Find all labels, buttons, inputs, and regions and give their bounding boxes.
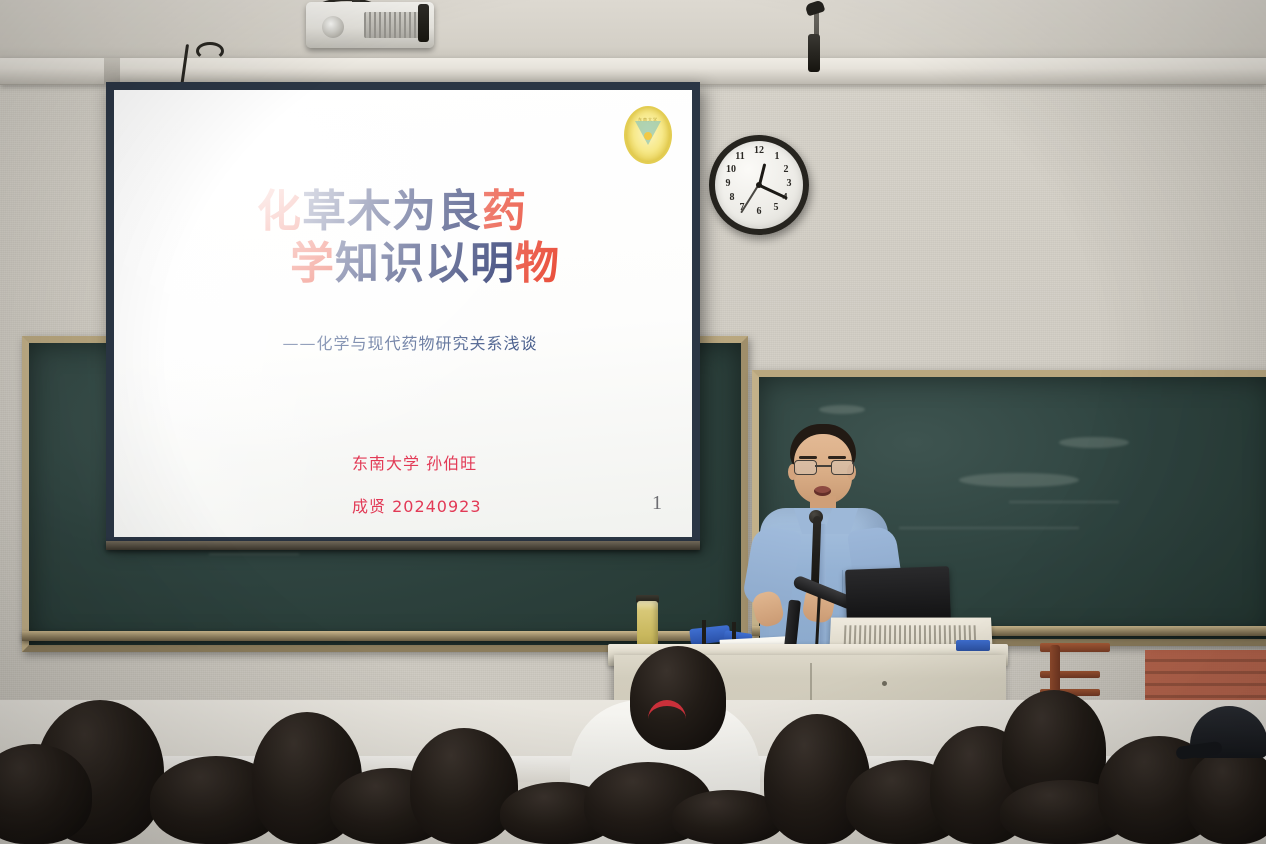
- glasses-lens-right: [831, 460, 854, 475]
- slide-title-line-2: 学知识以明物: [158, 238, 692, 290]
- title1-char-last: 药: [482, 186, 527, 237]
- projector-power-plug: [418, 4, 429, 42]
- chalk-tray-left: [22, 631, 734, 641]
- clock-numeral-6: 6: [753, 207, 765, 217]
- clock-numeral-1: 1: [771, 152, 783, 162]
- slide-surface: 东南大学 化草木为良药 学知识以明物 ——化学与现代药物研究关系浅谈 东南大学 …: [114, 90, 692, 537]
- glasses-lens-left: [794, 460, 817, 475]
- title1-char-1: 化: [257, 186, 302, 237]
- student-head-16: [1186, 748, 1266, 844]
- title2-mid: 知识以明: [335, 238, 515, 289]
- tea-thermos: [637, 601, 658, 649]
- clock-numeral-8: 8: [726, 193, 738, 203]
- blue-pad-item: [956, 640, 990, 651]
- lecturer-brow-left: [799, 456, 817, 459]
- screen-roller-housing: [0, 58, 1266, 85]
- clock-numeral-11: 11: [734, 152, 746, 162]
- screen-bottom-bar: [106, 541, 700, 550]
- title2-char-1: 学: [290, 238, 335, 289]
- glasses-icon: [794, 460, 852, 473]
- university-logo-icon: 东南大学: [624, 106, 672, 164]
- student-head-center: [630, 646, 726, 750]
- clock-numeral-10: 10: [725, 165, 737, 175]
- clock-numeral-9: 9: [722, 179, 734, 189]
- clock-numeral-2: 2: [780, 165, 792, 175]
- clock-numeral-12: 12: [753, 146, 765, 156]
- screen-roller-cap: [104, 58, 120, 84]
- logo-dot: [644, 132, 652, 140]
- clock-numeral-3: 3: [783, 179, 795, 189]
- wall-camera-body: [808, 34, 820, 72]
- slide-date: 成贤 20240923: [352, 493, 482, 517]
- lecturer-mouth: [814, 486, 831, 496]
- chair-slat-1: [1040, 671, 1100, 678]
- title2-char-last: 物: [515, 238, 560, 289]
- slide-title-line-1: 化草木为良药: [114, 186, 692, 238]
- lectern-knob-right[interactable]: [882, 681, 887, 686]
- slide-presenter: 东南大学 孙伯旺: [352, 450, 477, 474]
- classroom-photo: 12 1 2 3 4 5 6 7 8 9 10 11 东南大学: [0, 0, 1266, 844]
- ceiling-cable-loop: [196, 42, 224, 60]
- wall-clock: 12 1 2 3 4 5 6 7 8 9 10 11: [709, 135, 809, 235]
- ceiling-projector: [306, 2, 434, 48]
- student-lanyard: [648, 700, 686, 732]
- projection-screen: 东南大学 化草木为良药 学知识以明物 ——化学与现代药物研究关系浅谈 东南大学 …: [106, 82, 700, 545]
- lecturer-brow-right: [828, 456, 846, 459]
- ceiling: [0, 0, 1266, 66]
- clock-center-pin: [756, 182, 762, 188]
- slide-number: 1: [652, 492, 662, 515]
- title1-mid: 草木为良: [302, 186, 482, 237]
- glasses-bridge: [815, 465, 831, 467]
- clock-numeral-5: 5: [770, 203, 782, 213]
- slide-title-block: 化草木为良药 学知识以明物: [114, 186, 692, 290]
- slide-subtitle: ——化学与现代药物研究关系浅谈: [128, 330, 692, 354]
- projector-lens-icon: [322, 16, 344, 38]
- projector-vent: [364, 12, 422, 38]
